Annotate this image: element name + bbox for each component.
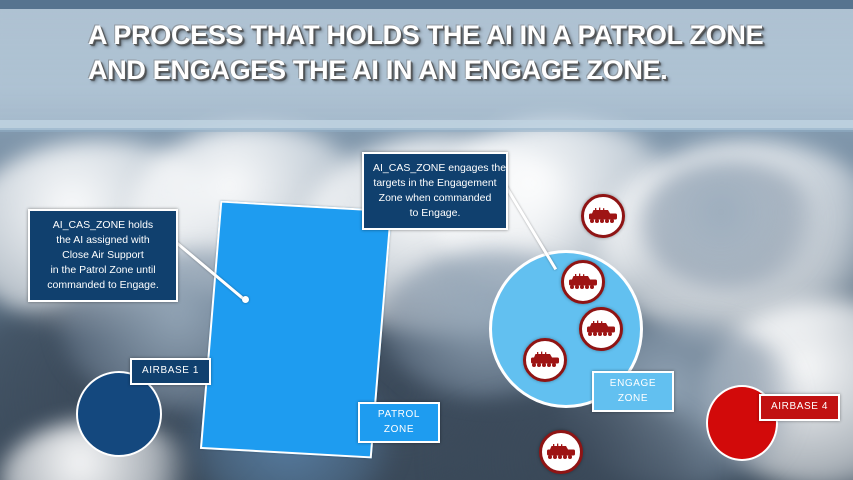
engage-callout-line-2: targets in the Engagement — [373, 176, 497, 191]
patrol-callout-line-4: in the Patrol Zone until — [39, 263, 167, 278]
armored-vehicle-icon — [568, 273, 598, 291]
engage-callout-line-4: to Engage. — [373, 206, 497, 221]
patrol-callout-leader-end-dot — [242, 296, 249, 303]
patrol-zone-label-line-1: PATROL — [370, 408, 428, 423]
cloud — [640, 160, 820, 290]
target-marker-lower[interactable] — [523, 338, 567, 382]
armored-vehicle-icon — [586, 320, 616, 338]
engage-callout[interactable]: AI_CAS_ZONE engages the targets in the E… — [362, 152, 508, 230]
engage-callout-line-1: AI_CAS_ZONE engages the — [373, 161, 497, 176]
target-marker-south[interactable] — [539, 430, 583, 474]
target-marker-right[interactable] — [579, 307, 623, 351]
title-band-accent-rule — [0, 128, 853, 132]
patrol-callout-line-1: AI_CAS_ZONE holds — [39, 218, 167, 233]
engage-zone-label-line-1: ENGAGE — [604, 377, 662, 392]
patrol-callout-line-2: the AI assigned with — [39, 233, 167, 248]
airbase-1-label-text: AIRBASE 1 — [142, 365, 199, 376]
target-marker-upper[interactable] — [561, 260, 605, 304]
engage-zone-label[interactable]: ENGAGE ZONE — [592, 371, 674, 412]
patrol-callout[interactable]: AI_CAS_ZONE holds the AI assigned with C… — [28, 209, 178, 302]
slide-canvas: A PROCESS THAT HOLDS THE AI IN A PATROL … — [0, 0, 853, 480]
engage-zone-label-line-2: ZONE — [604, 392, 662, 407]
airbase-1-label[interactable]: AIRBASE 1 — [130, 358, 211, 385]
engage-callout-line-3: Zone when commanded — [373, 191, 497, 206]
patrol-callout-line-3: Close Air Support — [39, 248, 167, 263]
airbase-4-label[interactable]: AIRBASE 4 — [759, 394, 840, 421]
patrol-callout-line-5: commanded to Engage. — [39, 278, 167, 293]
patrol-zone-label[interactable]: PATROL ZONE — [358, 402, 440, 443]
title-band-top-rule — [0, 0, 853, 9]
armored-vehicle-icon — [588, 207, 618, 225]
patrol-zone-label-line-2: ZONE — [370, 423, 428, 438]
armored-vehicle-icon — [530, 351, 560, 369]
page-title: A PROCESS THAT HOLDS THE AI IN A PATROL … — [88, 18, 788, 87]
armored-vehicle-icon — [546, 443, 576, 461]
airbase-4-label-text: AIRBASE 4 — [771, 401, 828, 412]
target-marker-north[interactable] — [581, 194, 625, 238]
